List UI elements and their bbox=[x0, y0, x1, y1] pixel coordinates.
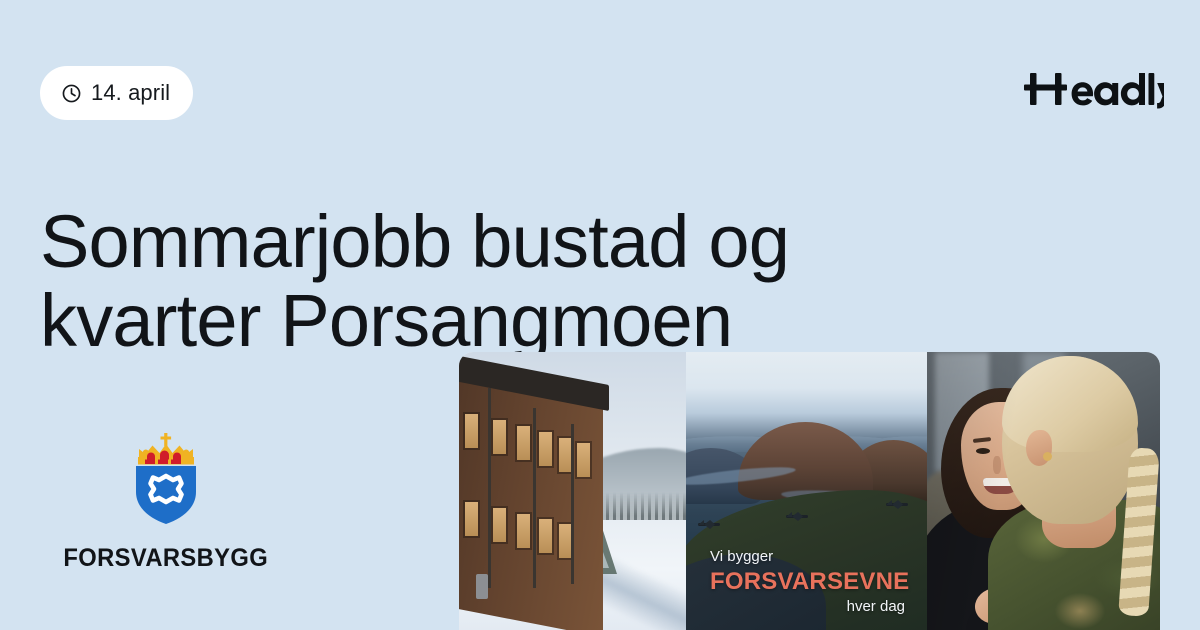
aerial-fighter-jets-photo: Vi bygger FORSVARSEVNE hver dag bbox=[686, 352, 927, 630]
snowy-barracks-photo bbox=[459, 352, 686, 630]
share-card: 14. april Sommarjobb bustad og bbox=[0, 0, 1200, 630]
caption-line-main: FORSVARSEVNE bbox=[710, 567, 905, 596]
two-people-talking-photo bbox=[927, 352, 1160, 630]
caption-line-top: Vi bygger bbox=[710, 548, 905, 567]
norwegian-coat-of-arms-crest-icon bbox=[123, 430, 209, 526]
date-badge: 14. april bbox=[40, 66, 193, 120]
date-badge-label: 14. april bbox=[91, 82, 170, 104]
page-title: Sommarjobb bustad og kvarter Porsangmoen bbox=[40, 202, 940, 360]
clock-icon bbox=[61, 83, 82, 104]
headly-logo[interactable] bbox=[1024, 62, 1164, 112]
source-name: FORSVARSBYGG bbox=[64, 544, 269, 573]
article-image-strip: Vi bygger FORSVARSEVNE hver dag bbox=[459, 352, 1160, 630]
source-logo: FORSVARSBYGG bbox=[56, 430, 276, 573]
caption-line-bottom: hver dag bbox=[710, 597, 905, 617]
image-caption: Vi bygger FORSVARSEVNE hver dag bbox=[686, 548, 927, 616]
